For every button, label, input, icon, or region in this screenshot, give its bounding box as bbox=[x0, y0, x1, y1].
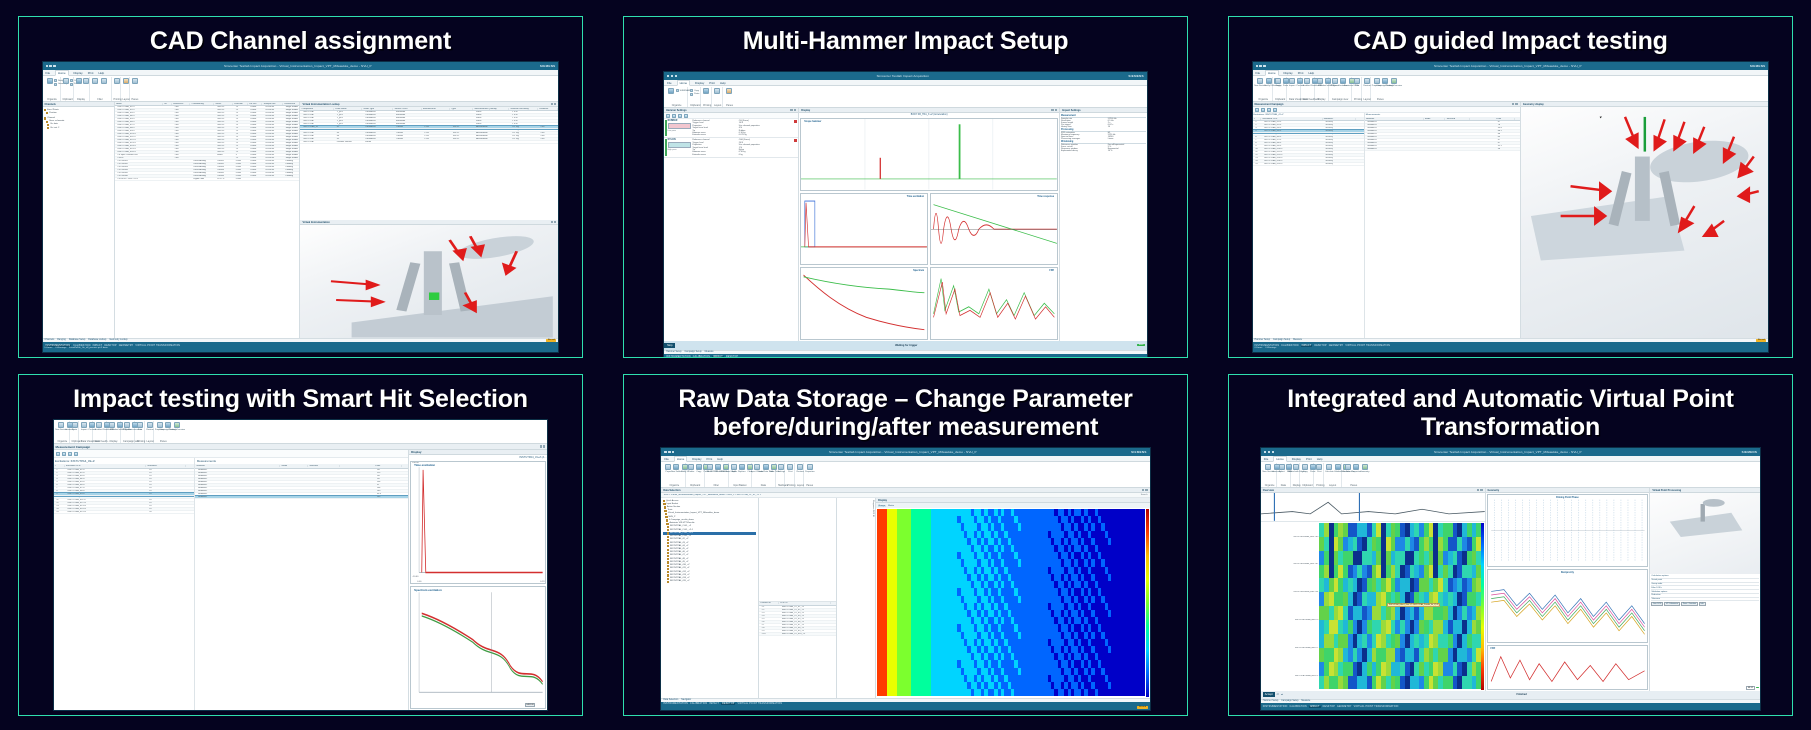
vi-lookup-icon[interactable] bbox=[101, 78, 107, 84]
settings-row[interactable]: History size10 bbox=[1061, 126, 1146, 128]
delete-hammer-icon[interactable] bbox=[794, 120, 797, 123]
ribbon[interactable]: New SectionNotify UIGeometryOrganizeCopy… bbox=[1253, 76, 1769, 102]
table-body[interactable]: Hammer1107Hammer1123Hammer1107Hammer1137… bbox=[195, 469, 408, 499]
ribbon-group-filter[interactable]: List3D+SERIES as Function3D+SERIES as Gr… bbox=[705, 463, 729, 487]
status-tab[interactable]: IMPACT bbox=[1309, 706, 1321, 708]
menu-print[interactable]: Print bbox=[1298, 71, 1304, 75]
table-row[interactable]: C10INSTUTPA4_CL_410_+Z bbox=[759, 633, 836, 636]
geometry-icon[interactable] bbox=[54, 83, 57, 86]
table-body[interactable]: INSTUTPA4_41+ZOFFINSTPL+ZLinear51200 HzS… bbox=[115, 106, 300, 181]
select-icon[interactable] bbox=[1279, 464, 1285, 470]
pane-window-buttons[interactable] bbox=[551, 221, 557, 223]
data-selection-icon[interactable] bbox=[1345, 464, 1351, 470]
pane-window-buttons[interactable] bbox=[1142, 489, 1148, 491]
column-header[interactable]: Type bbox=[450, 108, 473, 110]
panel-cad-guided-impact-testing[interactable]: CAD guided Impact testing Simcenter Test… bbox=[1228, 16, 1793, 358]
display-pane[interactable]: Display INSTUTPA4_31+Z (A... Time excita… bbox=[409, 450, 547, 710]
menu-home[interactable]: Home bbox=[1273, 456, 1286, 462]
table-body[interactable]: 1INSTUTPA4_41+Z5c0RFq2INSTUTPA4_42+Z5c0R… bbox=[1253, 121, 1364, 166]
ribbon-group-layout[interactable]: RestoreLayout bbox=[795, 463, 805, 487]
breadcrumb-item[interactable]: Campaign Setup bbox=[1273, 339, 1290, 341]
restore-icon[interactable] bbox=[123, 78, 129, 84]
status-tab[interactable]: INSTRUMENTATION bbox=[666, 356, 691, 358]
cad-viewport[interactable] bbox=[1521, 107, 1769, 338]
overview-pane[interactable]: Overview INSTUTPA Pseudo_force bbox=[1261, 488, 1486, 691]
notify-ui-icon[interactable] bbox=[1266, 78, 1272, 84]
colormap-plot[interactable] bbox=[877, 509, 1145, 697]
impact-settings-list[interactable]: MeasurementSample rate51200 HzResolution… bbox=[1060, 113, 1147, 341]
column-header[interactable]: Hammer1 bbox=[1323, 118, 1356, 120]
charts-pane[interactable]: Geometry Driving Point Phase Reciprocity bbox=[1486, 488, 1651, 691]
hammer-card[interactable]: RUBBERLow passReference channelCH (Force… bbox=[664, 119, 798, 138]
shaded-with-edges-icon[interactable] bbox=[1293, 464, 1299, 470]
channel-overview-icon[interactable] bbox=[726, 88, 732, 94]
panel-multi-hammer-impact-setup[interactable]: Multi-Hammer Impact Setup Simcenter Test… bbox=[623, 16, 1188, 358]
menu-file[interactable]: File bbox=[664, 457, 669, 461]
restore-icon[interactable] bbox=[147, 422, 153, 428]
display-pane[interactable]: Display BODY:FR_TRA_3:+Z (Acceleration) … bbox=[799, 108, 1060, 341]
menu-help[interactable]: Help bbox=[1317, 457, 1323, 461]
enabled-icon[interactable] bbox=[96, 422, 102, 428]
menu-display[interactable]: Display bbox=[1292, 457, 1301, 461]
ribbon-group-auto-feedb-[interactable]: EnabledDisabledAuto Feedb... bbox=[93, 421, 107, 443]
column-header[interactable]: Node Type bbox=[362, 108, 393, 110]
column-header[interactable]: Hammer bbox=[195, 465, 280, 467]
ribbon-group-organize[interactable]: New SectionGeometryOrganize bbox=[56, 421, 70, 443]
menu-display[interactable]: Display bbox=[74, 71, 83, 75]
validate-icon[interactable] bbox=[1335, 464, 1341, 470]
campaign-toolbar[interactable] bbox=[54, 450, 409, 458]
table-row[interactable]: CH DIG1 / DIG2 / DI.1Digital CANDO-TTLPu… bbox=[115, 178, 300, 181]
column-header[interactable]: Connection bbox=[283, 103, 300, 105]
ribbon-group-organize[interactable]: New SectionNotify UIGeometryOrganize bbox=[1255, 77, 1274, 101]
app-screenshot-2[interactable]: Simcenter Testlab Impact Acquisition SIE… bbox=[663, 71, 1148, 358]
column-header[interactable]: Peak bbox=[1495, 118, 1515, 120]
ribbon-group-printing[interactable]: PrintPrinting bbox=[785, 463, 795, 487]
column-header[interactable]: DOF ID bbox=[779, 602, 831, 604]
app-screenshot-4[interactable]: New SectionGeometryOrganizePasteClipboar… bbox=[53, 419, 549, 711]
subframe-icon[interactable] bbox=[676, 89, 679, 92]
properties-icon[interactable] bbox=[1374, 78, 1380, 84]
print-icon[interactable] bbox=[1316, 464, 1322, 470]
geometry-icon[interactable] bbox=[1362, 464, 1368, 470]
properties-icon[interactable] bbox=[1353, 464, 1359, 470]
pane-window-buttons[interactable] bbox=[1512, 103, 1518, 105]
new-section-icon[interactable] bbox=[1265, 464, 1271, 470]
ribbon-group-organize[interactable]: Notify UI Geometry Organize bbox=[45, 77, 61, 101]
column-header[interactable]: Sensor Class bbox=[393, 108, 421, 110]
properties-icon[interactable] bbox=[807, 464, 813, 470]
new-section-icon[interactable] bbox=[1257, 78, 1263, 84]
channels-pane[interactable]: Channels Excel Points Position Channel S… bbox=[43, 102, 115, 338]
data-tree[interactable]: Quick AccessInput BasketActive SectionTe… bbox=[661, 498, 758, 585]
vp-focus-icon[interactable] bbox=[1332, 78, 1338, 84]
column-header[interactable]: Peak bbox=[374, 465, 402, 467]
column-header[interactable]: Channel ID bbox=[759, 602, 779, 604]
apply-button[interactable] bbox=[1756, 687, 1759, 688]
table-body[interactable]: 1INSTUTPA4_41+Z102INSTUTPA4_42+Z103INSTU… bbox=[54, 469, 195, 514]
properties-icon[interactable] bbox=[157, 422, 163, 428]
status-tab[interactable]: DESKTOP bbox=[1323, 706, 1335, 708]
ribbon-group-layout[interactable]: RestoreLayout bbox=[145, 421, 155, 443]
vi-table[interactable]: ComponentPoint NameNode TypeSensor Class… bbox=[300, 107, 558, 220]
pane-window-buttons[interactable] bbox=[540, 445, 546, 447]
ribbon[interactable]: New SectionGeometryOrganizePasteClipboar… bbox=[54, 420, 548, 444]
panel-raw-data-storage[interactable]: Raw Data Storage – Change Parameter befo… bbox=[623, 374, 1188, 716]
ribbon-group-printing[interactable]: PrintPrinting bbox=[1352, 77, 1362, 101]
menu-file[interactable]: File bbox=[1264, 457, 1269, 461]
breadcrumb-item[interactable]: Campaign Setup bbox=[685, 351, 702, 353]
table-body[interactable]: C1INSTUTPA4_CL_41_+ZC2INSTUTPA4_CL_42_+Z… bbox=[759, 606, 836, 636]
menu-help[interactable]: Help bbox=[98, 71, 104, 75]
menu-file[interactable]: File bbox=[46, 71, 51, 75]
table-row[interactable]: 15INSTUTPA4_415+Z5c0RFq bbox=[1253, 163, 1364, 166]
status-bar[interactable]: INSTRUMENTATIONCALIBRATIONIMPACTDESKTOPV… bbox=[661, 702, 1149, 710]
status-tab[interactable]: DESKTOP bbox=[726, 356, 738, 358]
display-pane[interactable]: Display Range Matrix bbox=[876, 498, 1150, 698]
status-bar[interactable]: INSTRUMENTATIONCALIBRATIONIMPACTDESKTOPG… bbox=[1253, 342, 1769, 352]
ribbon[interactable]: PaperNew FolderNotify UIOrganizeDeleteCo… bbox=[661, 462, 1149, 488]
chart-frf[interactable]: FRF bbox=[930, 267, 1058, 340]
cad-icon[interactable] bbox=[109, 422, 115, 428]
ribbon-group-hardware[interactable]: SettingsHardware bbox=[776, 463, 786, 487]
properties-icon[interactable] bbox=[132, 78, 138, 84]
processing-button[interactable]: Driv. DOF bbox=[1651, 602, 1663, 606]
excitations-table[interactable]: Excitations: INSTUTPA4_41+Z #Excitation … bbox=[1253, 113, 1365, 338]
copy-icon[interactable] bbox=[690, 89, 693, 92]
stop-button[interactable]: Stop bbox=[664, 343, 675, 348]
menu-display[interactable]: Display bbox=[692, 457, 701, 461]
ribbon-group-organize[interactable]: PaperNew FolderNotify UIOrganize bbox=[663, 463, 686, 487]
channel-id-table[interactable]: Channel IDDOF ID C1INSTUTPA4_CL_41_+ZC2I… bbox=[759, 602, 836, 698]
ribbon-group-display[interactable]: Display bbox=[74, 77, 90, 101]
column-header[interactable]: Mode bbox=[1424, 118, 1446, 120]
chart-spectrum-excitation[interactable]: Spectrum excitation 6400.00 bbox=[410, 586, 546, 709]
menu-file[interactable]: File bbox=[1256, 71, 1261, 75]
value-field[interactable]: 68.92 bbox=[1746, 686, 1755, 690]
column-header[interactable]: Selected bbox=[308, 465, 340, 467]
paper-icon[interactable] bbox=[665, 464, 671, 470]
order-data-table-icon[interactable] bbox=[763, 464, 769, 470]
ribbon-group-panes[interactable]: Panes bbox=[723, 87, 736, 107]
channel-overview-icon[interactable] bbox=[1391, 78, 1397, 84]
breadcrumb-item[interactable]: Measure bbox=[705, 351, 714, 353]
ribbon-group-layout[interactable]: CalculateValidateRestoreLayout bbox=[1324, 463, 1343, 487]
table-row[interactable]: INSTUTPAPseudo. SensorVirtual bbox=[300, 141, 558, 144]
column-header[interactable]: Reference bbox=[172, 103, 190, 105]
panel-cad-channel-assignment[interactable]: CAD Channel assignment Simcenter Testlab… bbox=[18, 16, 583, 358]
ribbon-group-input-basket[interactable]: AddReplaceClearInput Basket bbox=[729, 463, 752, 487]
menu-print[interactable]: Print bbox=[1306, 457, 1312, 461]
menu-file[interactable]: File bbox=[667, 81, 672, 85]
vp-focus-icon[interactable] bbox=[124, 422, 130, 428]
ribbon-group-layout[interactable]: Layout bbox=[712, 87, 723, 107]
print-icon[interactable] bbox=[1354, 78, 1360, 84]
pane-window-buttons[interactable] bbox=[1051, 109, 1057, 111]
column-header[interactable]: Excitation DOF bbox=[65, 465, 147, 467]
breadcrumb-item[interactable]: Measure bbox=[1301, 700, 1310, 702]
breadcrumb-item[interactable]: Hammer Setup bbox=[1263, 700, 1278, 702]
ribbon-group-panes[interactable]: PropertiesCampaign SettingsChannel Overv… bbox=[1371, 77, 1390, 101]
menu-help[interactable]: Help bbox=[717, 457, 723, 461]
overview-strip[interactable] bbox=[1261, 493, 1485, 522]
cad-viewport[interactable] bbox=[300, 225, 558, 337]
window-controls-icon[interactable] bbox=[1264, 451, 1274, 453]
ribbon-group-display[interactable]: CADShaded with EdgesDisplay bbox=[107, 421, 121, 443]
copy-icon[interactable] bbox=[1275, 78, 1281, 84]
table-body[interactable]: INSTUTPA1_p1STransducerExcitationForce1 … bbox=[300, 111, 558, 144]
column-header[interactable]: Hammer bbox=[1365, 118, 1424, 120]
menu-print[interactable]: Print bbox=[706, 457, 712, 461]
ribbon-group-panes[interactable]: PropertiesPanes bbox=[804, 463, 814, 487]
restore-icon[interactable] bbox=[714, 88, 720, 94]
window-controls-icon[interactable] bbox=[664, 451, 674, 453]
app-screenshot-1[interactable]: Simcenter Testlab Impact Acquisition - V… bbox=[42, 61, 560, 353]
column-header[interactable]: Direction bbox=[233, 103, 248, 105]
hammer-field[interactable]: Extender mass0 kg bbox=[692, 154, 793, 156]
campaign-body[interactable]: Excitations: INSTUTPA4_49+Z #Excitation … bbox=[54, 450, 410, 710]
channel-tree[interactable]: Excel Points Position Channel Sens. sche… bbox=[43, 107, 114, 131]
ribbon-group-printing[interactable]: Printing bbox=[701, 87, 712, 107]
menu-print[interactable]: Print bbox=[88, 71, 94, 75]
chart-frf[interactable]: FRF bbox=[1487, 645, 1649, 690]
campaign-settings-icon[interactable] bbox=[165, 422, 171, 428]
ribbon-group-display[interactable]: Shaded with EdgesDisplay bbox=[1291, 463, 1301, 487]
measurements-table[interactable]: Measurements HammerModeSelectedPeak Hamm… bbox=[195, 458, 408, 710]
print-icon[interactable] bbox=[703, 88, 709, 94]
breadcrumb-item[interactable]: Channels bbox=[45, 339, 55, 341]
tab-range[interactable]: Range bbox=[878, 505, 886, 507]
ribbon-group-panes[interactable]: Data SelectionPropertiesGeometryPanes bbox=[1342, 463, 1365, 487]
ribbon-group-clipboard[interactable]: Copy Paste Clipboard bbox=[688, 87, 701, 107]
status-bar[interactable]: INSTRUMENTATIONCALIBRATIONIMPACTDESKTOPG… bbox=[43, 342, 559, 352]
paste-icon[interactable] bbox=[690, 93, 693, 96]
column-header[interactable]: Component bbox=[300, 108, 334, 110]
impact-icon[interactable] bbox=[81, 422, 87, 428]
new-section-icon[interactable] bbox=[47, 78, 53, 84]
menu-display[interactable]: Display bbox=[1284, 71, 1293, 75]
column-header[interactable]: # bbox=[54, 465, 65, 467]
ribbon-group-data[interactable]: Input ChannelOrder Data TableOrder TimeD… bbox=[752, 463, 776, 487]
3d-series-as-function-icon[interactable] bbox=[715, 464, 721, 470]
breadcrumb-item[interactable]: Campaign Setup bbox=[1281, 700, 1298, 702]
hammer-list[interactable]: RUBBERLow passReference channelCH (Force… bbox=[664, 119, 798, 341]
breadcrumb-item[interactable]: Navigator bbox=[681, 699, 691, 701]
column-header[interactable]: Name bbox=[115, 103, 163, 105]
menu-home[interactable]: Home bbox=[55, 70, 68, 76]
column-header[interactable]: # bbox=[1253, 118, 1262, 120]
impact-icon[interactable] bbox=[1289, 78, 1295, 84]
ribbon-group-display[interactable]: CADShaded with EdgesDisplay bbox=[1315, 77, 1329, 101]
processing-button[interactable]: VP Coherence bbox=[1664, 602, 1680, 606]
ribbon-group-layout[interactable]: Layout bbox=[121, 77, 130, 101]
cad-display-icon[interactable] bbox=[76, 78, 82, 84]
menu-help[interactable]: Help bbox=[1308, 71, 1314, 75]
status-tab[interactable]: VIRTUAL POINT TRANSFORMATION bbox=[1354, 706, 1399, 708]
channel-list-pane[interactable]: Channel IDDOF ID C1INSTUTPA4_CL_41_+ZC2I… bbox=[759, 498, 837, 698]
column-header[interactable]: Measurement Quantity bbox=[473, 108, 509, 110]
ribbon-group-auto-feedback[interactable]: EnabledDisabledAuto Feedback bbox=[1301, 77, 1315, 101]
search-label[interactable]: Search bbox=[1141, 494, 1148, 496]
processing-sections[interactable]: Calculation optionsVirtual pointGroup or… bbox=[1650, 574, 1760, 685]
ribbon-group-printing[interactable]: PrintPrinting bbox=[1314, 463, 1324, 487]
ribbon[interactable]: Notify UI Geometry Organize Copy Paste C… bbox=[43, 76, 559, 102]
list-icon[interactable] bbox=[707, 464, 713, 470]
geometry-thumb[interactable] bbox=[1650, 493, 1760, 574]
processing-button[interactable]: Info bbox=[1699, 602, 1706, 606]
enabled-icon[interactable] bbox=[1304, 78, 1310, 84]
paste-icon[interactable] bbox=[72, 422, 78, 428]
menu-display[interactable]: Display bbox=[695, 81, 704, 85]
status-tab[interactable]: CALIBRATION bbox=[1290, 706, 1307, 708]
app-screenshot-3[interactable]: Simcenter Testlab Impact Acquisition - V… bbox=[1252, 61, 1770, 353]
chart-reciprocity[interactable]: Reciprocity bbox=[1487, 569, 1649, 642]
cad-icon[interactable] bbox=[1317, 78, 1323, 84]
table-row[interactable]: Hammer1105 bbox=[195, 496, 408, 499]
ribbon-group-clipboard[interactable]: Copy Paste Clipboard bbox=[61, 77, 74, 101]
ribbon-group-campaign-view[interactable]: VP FocusExcitationExcitation DOFsCampaig… bbox=[1329, 77, 1352, 101]
vi-lookup-pane[interactable]: Virtual Instrumentation Lookup Component… bbox=[300, 102, 558, 338]
app-screenshot-6[interactable]: Simcenter Testlab Impact Acquisition - V… bbox=[1260, 447, 1761, 711]
window-controls-icon[interactable] bbox=[1256, 65, 1266, 67]
impact-settings-pane[interactable]: Impact Settings MeasurementSample rate51… bbox=[1060, 108, 1147, 341]
next-icon[interactable]: ⏭ bbox=[1281, 693, 1283, 696]
status-tab[interactable]: GEOMETRY bbox=[1337, 706, 1352, 708]
ribbon-group-filter[interactable]: Filter bbox=[90, 77, 112, 101]
copy-icon[interactable] bbox=[1302, 464, 1308, 470]
ribbon-group-data-visualization[interactable]: ImpactPreviewData Visualization bbox=[79, 421, 93, 443]
measurement-campaign-pane[interactable]: Measurement Campaign Excitations: INSTUT… bbox=[1253, 102, 1521, 338]
new-section-icon[interactable] bbox=[58, 422, 64, 428]
prev-icon[interactable]: ⏮ bbox=[1277, 693, 1279, 696]
vpt-matrix[interactable]: INSTUTPA4_Filter1_Gen +Z - INSTUTPA4_Pse… bbox=[1319, 523, 1481, 690]
delete-icon[interactable] bbox=[688, 464, 694, 470]
settings-row[interactable]: Exponential decay10 % bbox=[1061, 150, 1146, 152]
ribbon-group-printing[interactable]: Printing bbox=[112, 77, 121, 101]
excitations-table[interactable]: Excitations: INSTUTPA4_49+Z #Excitation … bbox=[54, 458, 196, 710]
ribbon-group-panes[interactable]: PropertiesCampaign SettingsChannel Overv… bbox=[154, 421, 173, 443]
ribbon-group-clipboard[interactable]: PasteClipboard bbox=[70, 421, 80, 443]
column-header[interactable]: Manufacturer bbox=[422, 108, 450, 110]
record-button[interactable]: Record bbox=[1137, 706, 1147, 709]
new-folder-icon[interactable] bbox=[673, 464, 679, 470]
processing-section[interactable]: Tolerance bbox=[1651, 598, 1759, 602]
column-header[interactable]: Meas. bbox=[214, 103, 232, 105]
status-tab[interactable]: IMPACT bbox=[712, 356, 724, 358]
geometry-lookup-icon[interactable] bbox=[92, 78, 98, 84]
chart-scope-hammer[interactable]: Scope hammer bbox=[800, 118, 1058, 191]
table-row[interactable]: 15INSTUTPA4_415+Z20 bbox=[54, 511, 195, 514]
table-body[interactable]: Hammer187Hammer178Hammer193.4Hammer188.1… bbox=[1365, 121, 1520, 151]
pane-window-buttons[interactable] bbox=[1477, 489, 1483, 491]
ribbon-group-organize[interactable]: New SectionGeometryOrganize bbox=[1263, 463, 1277, 487]
campaign-settings-icon[interactable] bbox=[1382, 78, 1388, 84]
chart-time-excitation[interactable]: Time excitation bbox=[800, 193, 928, 266]
tab-matrix[interactable]: Matrix bbox=[888, 505, 894, 507]
assign-channel-icon[interactable] bbox=[63, 78, 69, 84]
menu-print[interactable]: Print bbox=[709, 81, 715, 85]
replace-icon[interactable] bbox=[739, 464, 745, 470]
chart-time-response[interactable]: Time response bbox=[930, 193, 1058, 266]
panel-virtual-point-transformation[interactable]: Integrated and Automatic Virtual Point T… bbox=[1228, 374, 1793, 716]
column-header[interactable]: Selected bbox=[1445, 118, 1470, 120]
breadcrumb-item[interactable]: Hammer Setup bbox=[666, 351, 681, 353]
status-tab[interactable]: CALIBRATION bbox=[693, 356, 710, 358]
ribbon-group-clipboard[interactable]: DeleteCopyPasteClipboard bbox=[686, 463, 705, 487]
channel-table[interactable]: NameOnReferenceConditioningMeas.Directio… bbox=[115, 102, 300, 338]
ribbon-group-campaign-view[interactable]: VP FocusMeasurementsCampaign view bbox=[121, 421, 135, 443]
add-icon[interactable] bbox=[731, 464, 737, 470]
new-section-icon[interactable] bbox=[668, 88, 674, 94]
column-header[interactable]: Conditioning bbox=[190, 103, 214, 105]
hammer-field[interactable]: Extender mass0.075 kg bbox=[692, 134, 793, 136]
ribbon[interactable]: SUBFRAME Organize Copy Paste Clipboard P… bbox=[664, 86, 1147, 108]
window-controls-icon[interactable] bbox=[667, 75, 677, 77]
input-channel-icon[interactable] bbox=[754, 464, 760, 470]
ribbon-group-data[interactable]: SelectCADData bbox=[1277, 463, 1291, 487]
breadcrumb-item[interactable]: Geometry Lookup bbox=[109, 339, 127, 341]
column-header[interactable]: Sample rate bbox=[262, 103, 282, 105]
column-header[interactable]: Hammer1 bbox=[146, 465, 185, 467]
menu-home[interactable]: Home bbox=[1265, 70, 1278, 76]
menu-home[interactable]: Home bbox=[677, 80, 690, 86]
processing-button[interactable]: Pass - Function bbox=[1681, 602, 1698, 606]
ribbon[interactable]: New SectionGeometryOrganizeSelectCADData… bbox=[1261, 462, 1760, 488]
breadcrumb-item[interactable]: Data Selection bbox=[663, 699, 678, 701]
print-icon[interactable] bbox=[137, 422, 143, 428]
ribbon-group-layout[interactable]: RestoreLayout bbox=[1362, 77, 1372, 101]
channel-table-pane[interactable]: NameOnReferenceConditioningMeas.Directio… bbox=[115, 102, 301, 338]
delete-hammer-icon[interactable] bbox=[794, 139, 797, 142]
measurements-table[interactable]: Measurements HammerModeSelectedPeak Hamm… bbox=[1365, 113, 1520, 338]
transport-bar[interactable]: Accept ⏮ ⏭ Finished bbox=[1261, 691, 1760, 699]
notify-icon[interactable] bbox=[54, 79, 57, 82]
restore-icon[interactable] bbox=[797, 464, 803, 470]
print-icon[interactable] bbox=[787, 464, 793, 470]
status-tabs[interactable]: INSTRUMENTATIONCALIBRATIONIMPACTDESKTOPG… bbox=[1263, 706, 1758, 708]
chart-driving-point-phase[interactable]: Driving Point Phase bbox=[1487, 494, 1649, 567]
ribbon-group-panes[interactable]: Panes bbox=[130, 77, 139, 101]
tree-node[interactable]: INSTUTPA4_415_+Z bbox=[663, 580, 757, 583]
column-header[interactable]: Point Name bbox=[334, 108, 362, 110]
column-header[interactable]: Condition bbox=[538, 108, 559, 110]
breadcrumb-item[interactable]: Measure bbox=[1293, 339, 1302, 341]
column-header[interactable]: Nominal sensitivity bbox=[509, 108, 537, 110]
copy-icon[interactable] bbox=[696, 464, 702, 470]
breadcrumb-item[interactable]: Hammer Setup bbox=[1255, 339, 1270, 341]
chart-spectrum[interactable]: Spectrum bbox=[800, 267, 928, 340]
status-bar[interactable]: INSTRUMENTATIONCALIBRATIONIMPACTDESKTOP … bbox=[664, 354, 1147, 358]
column-header[interactable]: On bbox=[163, 103, 172, 105]
hammer-card[interactable]: NYLONHigh passReference channelCH0 (Forc… bbox=[664, 138, 798, 157]
display-navigator[interactable]: INSTUTPA4_31+Z (A... bbox=[409, 455, 547, 460]
calculate-icon[interactable] bbox=[1326, 464, 1332, 470]
column-header[interactable]: Excitation DOF bbox=[1261, 118, 1322, 120]
restore-icon[interactable] bbox=[1364, 78, 1370, 84]
pane-window-buttons[interactable] bbox=[790, 109, 796, 111]
hammer-settings-pane[interactable]: Hammer Settings RUBBERLow passReference … bbox=[664, 108, 799, 341]
ribbon-group-printing[interactable]: PrintPrinting bbox=[135, 421, 145, 443]
settings-row[interactable]: Processing averagesLinear bbox=[1061, 138, 1146, 140]
breadcrumb-item[interactable]: Database Lookup bbox=[88, 339, 106, 341]
geometry-display-pane[interactable]: Geometry display bbox=[1521, 102, 1769, 338]
print-icon[interactable] bbox=[114, 78, 120, 84]
breadcrumb-item[interactable]: Database Setup bbox=[69, 339, 85, 341]
shaded-edges-icon[interactable] bbox=[83, 78, 89, 84]
status-bar[interactable]: INSTRUMENTATIONCALIBRATIONIMPACTDESKTOPG… bbox=[1261, 703, 1760, 710]
app-screenshot-5[interactable]: Simcenter Testlab Impact Acquisition - V… bbox=[660, 447, 1150, 711]
status-tab[interactable]: INSTRUMENTATION bbox=[1263, 706, 1288, 708]
